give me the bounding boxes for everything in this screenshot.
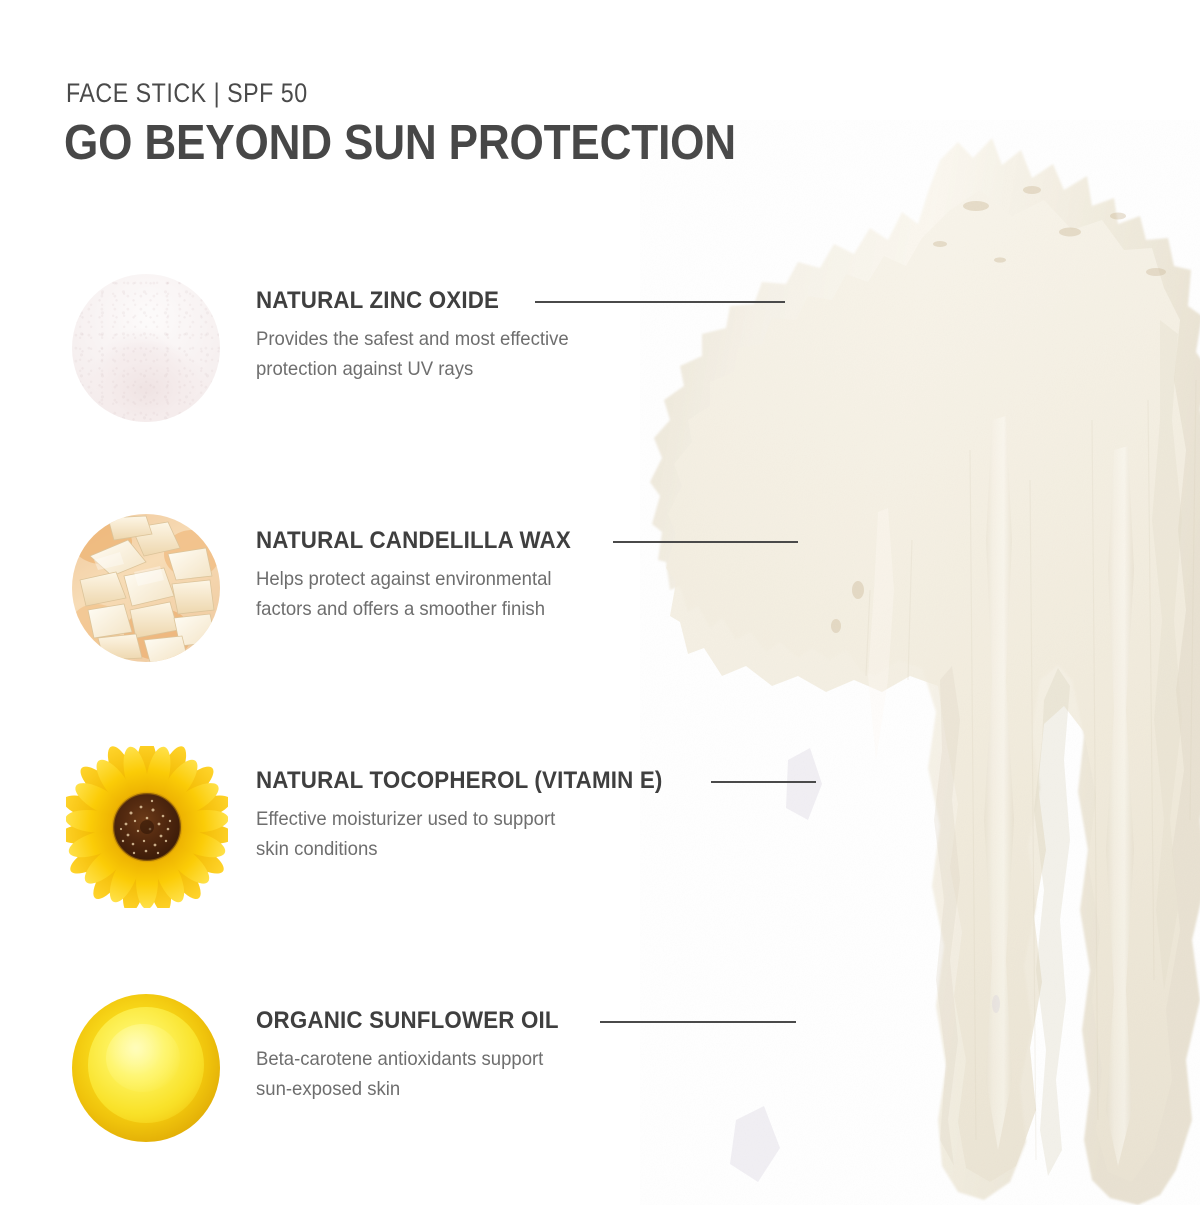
feature-description-line: sun-exposed skin: [256, 1075, 845, 1105]
feature-row: NATURAL CANDELILLA WAX Helps protect aga…: [0, 512, 1200, 682]
feature-description-line: skin conditions: [256, 835, 845, 865]
feature-description-line: Effective moisturizer used to support: [256, 805, 845, 835]
feature-description: Helps protect against environmental fact…: [256, 565, 845, 624]
feature-row: NATURAL TOCOPHEROL (VITAMIN E) Effective…: [0, 752, 1200, 922]
feature-text-block: ORGANIC SUNFLOWER OIL Beta-carotene anti…: [256, 1006, 876, 1104]
connector-line: [711, 781, 816, 783]
page-title: GO BEYOND SUN PROTECTION: [64, 118, 736, 169]
feature-text-block: NATURAL CANDELILLA WAX Helps protect aga…: [256, 526, 876, 624]
zinc-oxide-powder-icon: [72, 274, 220, 422]
connector-line: [613, 541, 798, 543]
feature-title: NATURAL ZINC OXIDE: [256, 287, 499, 315]
feature-title: NATURAL TOCOPHEROL (VITAMIN E): [256, 767, 663, 795]
feature-description: Effective moisturizer used to support sk…: [256, 805, 845, 864]
feature-text-block: NATURAL TOCOPHEROL (VITAMIN E) Effective…: [256, 766, 876, 864]
feature-description: Provides the safest and most effective p…: [256, 325, 845, 384]
feature-description-line: Provides the safest and most effective: [256, 325, 845, 355]
feature-description-line: Helps protect against environmental: [256, 565, 845, 595]
sunflower-icon: [66, 746, 228, 908]
feature-description: Beta-carotene antioxidants support sun-e…: [256, 1045, 845, 1104]
feature-title: ORGANIC SUNFLOWER OIL: [256, 1007, 559, 1035]
connector-line: [600, 1021, 796, 1023]
feature-description-line: factors and offers a smoother finish: [256, 595, 845, 625]
candelilla-wax-flakes-icon: [72, 514, 220, 662]
feature-description-line: Beta-carotene antioxidants support: [256, 1045, 845, 1075]
connector-line: [535, 301, 785, 303]
product-eyebrow: FACE STICK | SPF 50: [66, 78, 308, 109]
feature-text-block: NATURAL ZINC OXIDE Provides the safest a…: [256, 286, 876, 384]
sunflower-oil-drop-icon: [72, 994, 220, 1142]
feature-row: ORGANIC SUNFLOWER OIL Beta-carotene anti…: [0, 992, 1200, 1162]
feature-description-line: protection against UV rays: [256, 355, 845, 385]
feature-title: NATURAL CANDELILLA WAX: [256, 527, 571, 555]
feature-row: NATURAL ZINC OXIDE Provides the safest a…: [0, 272, 1200, 442]
product-infographic: { "header": { "eyebrow": "FACE STICK | S…: [0, 0, 1200, 1200]
